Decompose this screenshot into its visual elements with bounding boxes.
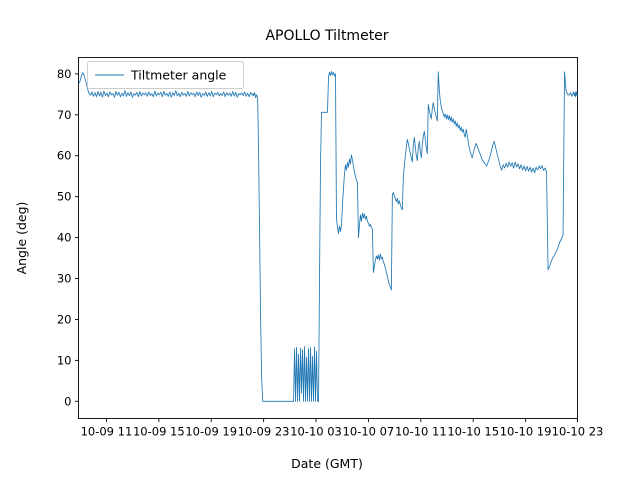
y-tick-label: 50 xyxy=(57,190,72,204)
y-tick-label: 80 xyxy=(57,67,72,81)
y-tick-label: 20 xyxy=(57,312,72,326)
x-tick-label: 10-10 07 xyxy=(343,425,395,439)
y-tick-label: 60 xyxy=(57,149,72,163)
y-tick-label: 0 xyxy=(64,394,71,408)
y-tick-label: 40 xyxy=(57,231,72,245)
x-tick-label: 10-10 15 xyxy=(447,425,499,439)
x-tick-label: 10-09 19 xyxy=(185,425,237,439)
legend-label-tiltmeter-angle: Tiltmeter angle xyxy=(130,68,227,83)
y-axis-label: Angle (deg) xyxy=(14,202,29,275)
tiltmeter-line-chart: APOLLO Tiltmeter 01020304050607080 10-09… xyxy=(0,0,640,480)
chart-title: APOLLO Tiltmeter xyxy=(265,28,388,44)
x-tick-label: 10-10 11 xyxy=(395,425,447,439)
y-tick-label: 30 xyxy=(57,272,72,286)
x-tick-label: 10-09 23 xyxy=(238,425,290,439)
y-tick-label: 10 xyxy=(57,353,72,367)
x-axis-label: Date (GMT) xyxy=(291,456,363,471)
x-tick-label: 10-09 11 xyxy=(81,425,133,439)
legend[interactable]: Tiltmeter angle xyxy=(88,62,244,89)
y-tick-label: 70 xyxy=(57,108,72,122)
figure-canvas: APOLLO Tiltmeter 01020304050607080 10-09… xyxy=(0,0,640,480)
x-tick-label: 10-09 15 xyxy=(133,425,185,439)
x-tick-label: 10-10 03 xyxy=(290,425,342,439)
x-tick-label: 10-10 23 xyxy=(552,425,604,439)
x-tick-label: 10-10 19 xyxy=(500,425,552,439)
